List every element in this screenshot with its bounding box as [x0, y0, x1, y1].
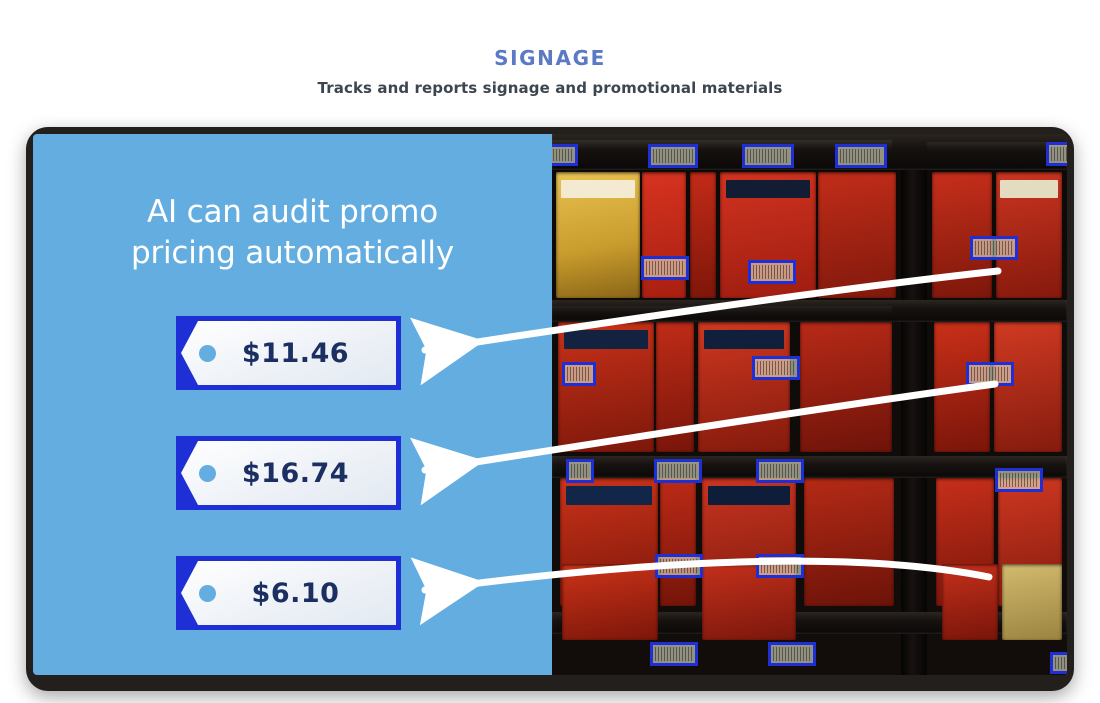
product-brand-bar: [566, 486, 652, 505]
detection-box: [566, 459, 594, 483]
product-brand-bar: [561, 180, 635, 199]
shelf-rail: [552, 134, 1067, 170]
detection-box: [748, 260, 796, 284]
detection-box: [655, 554, 703, 578]
product-box: [800, 322, 892, 452]
product-box: [818, 172, 896, 298]
shelf-label: [971, 367, 1009, 381]
shelf-label: [653, 149, 693, 163]
shelf-label: [757, 361, 795, 375]
shelf-row: [552, 564, 1067, 644]
detection-box: [966, 362, 1014, 386]
shelf-label: [773, 647, 811, 661]
slide-card: AI can audit promo pricing automatically…: [33, 134, 1067, 675]
detection-box: [641, 256, 689, 280]
tag-hole-icon: [199, 585, 216, 602]
price-tag-2[interactable]: $16.74: [176, 436, 401, 510]
page-subtitle: Tracks and reports signage and promotion…: [0, 79, 1100, 97]
product-box: [1002, 564, 1062, 640]
detection-box: [1046, 142, 1067, 166]
shelf-label: [1055, 657, 1067, 669]
device-frame: AI can audit promo pricing automatically…: [26, 127, 1074, 691]
detection-box: [654, 459, 702, 483]
shelf-row: [552, 322, 1067, 456]
shelf-row: [552, 170, 1067, 300]
shelf-label: [567, 367, 591, 381]
product-brand-bar: [708, 486, 791, 505]
shelf-rail: [552, 300, 1067, 322]
shelf-label: [655, 647, 693, 661]
shelf-rail: [552, 456, 1067, 478]
product-box: [996, 172, 1062, 298]
detection-box: [756, 554, 804, 578]
product-box: [690, 172, 716, 298]
detection-box: [1050, 652, 1067, 674]
tag-hole-icon: [199, 345, 216, 362]
shelf-label: [761, 559, 799, 573]
product-box: [934, 322, 990, 452]
detection-box: [648, 144, 698, 168]
shelf-label: [761, 464, 799, 478]
detection-box: [768, 642, 816, 666]
product-box: [994, 322, 1062, 452]
price-tag-1[interactable]: $11.46: [176, 316, 401, 390]
tag-hole-icon: [199, 465, 216, 482]
shelf-label: [659, 464, 697, 478]
shelf-label: [747, 149, 789, 163]
shelf-label: [1000, 473, 1038, 487]
page-title: SIGNAGE: [0, 46, 1100, 70]
detection-box: [650, 642, 698, 666]
panel-heading: AI can audit promo pricing automatically: [33, 192, 552, 274]
price-tag-body: $11.46: [181, 321, 396, 385]
product-box: [656, 322, 694, 452]
detection-box: [756, 459, 804, 483]
detection-box: [742, 144, 794, 168]
detection-box: [835, 144, 887, 168]
price-tag-3[interactable]: $6.10: [176, 556, 401, 630]
price-tag-body: $6.10: [181, 561, 396, 625]
price-tag-body: $16.74: [181, 441, 396, 505]
shelf-label: [571, 464, 589, 478]
product-brand-bar: [564, 330, 649, 350]
product-brand-bar: [1000, 180, 1058, 199]
shelf-label: [646, 261, 684, 275]
shelf-label: [975, 241, 1013, 255]
product-brand-bar: [704, 330, 785, 350]
shelf-label: [1051, 147, 1067, 161]
info-panel: AI can audit promo pricing automatically…: [33, 134, 552, 675]
product-box: [562, 564, 658, 640]
product-box: [556, 172, 640, 298]
detection-box: [995, 468, 1043, 492]
shelf-label: [660, 559, 698, 573]
detection-box: [552, 144, 578, 166]
product-brand-bar: [726, 180, 811, 199]
page-header: SIGNAGE Tracks and reports signage and p…: [0, 0, 1100, 118]
price-value: $16.74: [228, 458, 349, 489]
product-box: [558, 322, 654, 452]
price-value: $6.10: [238, 578, 340, 609]
photo-scene: [552, 134, 1067, 675]
product-box: [698, 322, 790, 452]
detection-box: [970, 236, 1018, 260]
shelf-label: [753, 265, 791, 279]
product-box: [932, 172, 992, 298]
shelf-label: [553, 149, 573, 161]
detection-box: [562, 362, 596, 386]
product-box: [942, 564, 998, 640]
price-value: $11.46: [228, 338, 349, 369]
shelf-label: [840, 149, 882, 163]
cooler-photo: [552, 134, 1067, 675]
detection-box: [752, 356, 800, 380]
